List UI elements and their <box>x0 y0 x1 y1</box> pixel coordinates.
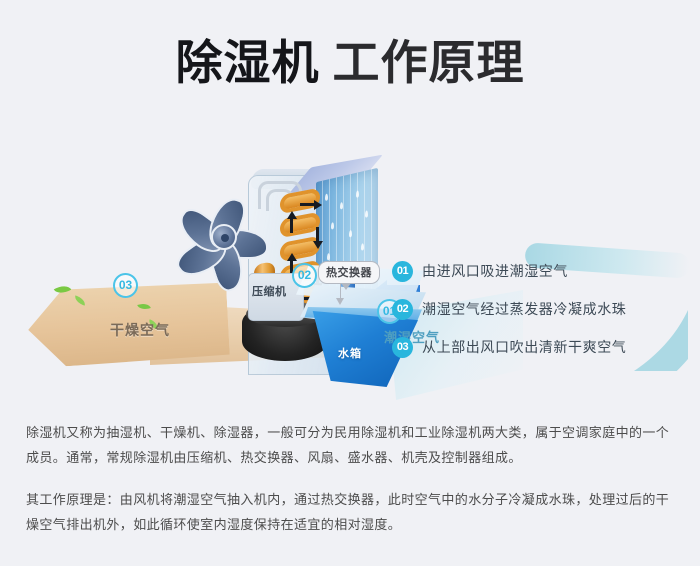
flow-arrow-right <box>314 200 322 210</box>
description-paragraph-2: 其工作原理是：由风机将潮湿空气抽入机内，通过热交换器，此时空气中的水分子冷凝成水… <box>26 487 678 537</box>
steps-legend: 01 由进风口吸进潮湿空气 02 潮湿空气经过蒸发器冷凝成水珠 03 从上部出风… <box>392 252 692 366</box>
legend-text-03: 从上部出风口吹出清新干爽空气 <box>422 337 626 357</box>
description-section: 除湿机又称为抽湿机、干燥机、除湿器，一般可分为民用除湿机和工业除湿机两大类，属于… <box>26 420 678 537</box>
legend-item-02: 02 潮湿空气经过蒸发器冷凝成水珠 <box>392 290 692 328</box>
legend-item-03: 03 从上部出风口吹出清新干爽空气 <box>392 328 692 366</box>
legend-text-01: 由进风口吸进潮湿空气 <box>422 261 568 281</box>
page-title-part2: 工作原理 <box>333 36 525 89</box>
legend-badge-03: 03 <box>392 337 413 358</box>
legend-item-01: 01 由进风口吸进潮湿空气 <box>392 252 692 290</box>
legend-text-02: 潮湿空气经过蒸发器冷凝成水珠 <box>422 299 626 319</box>
flow-arrow-down <box>313 241 323 249</box>
legend-badge-02: 02 <box>392 299 413 320</box>
flow-arrow-up <box>287 253 297 261</box>
page-title: 除湿机工作原理 <box>0 34 700 92</box>
description-paragraph-1: 除湿机又称为抽湿机、干燥机、除湿器，一般可分为民用除湿机和工业除湿机两大类，属于… <box>26 420 678 470</box>
flow-arrow-up <box>287 211 297 219</box>
legend-badge-01: 01 <box>392 261 413 282</box>
compressor-label: 压缩机 <box>252 283 287 299</box>
diagram-badge-02: 02 <box>292 263 317 288</box>
infographic-page: 除湿机工作原理 <box>0 0 700 566</box>
heat-exchanger-callout: 热交换器 <box>318 261 380 284</box>
page-title-part1: 除湿机 <box>176 36 320 89</box>
flow-arrow-stem <box>300 203 314 206</box>
dry-air-label: 干燥空气 <box>110 320 170 340</box>
diagram-badge-03: 03 <box>113 273 138 298</box>
water-tank-label: 水箱 <box>338 345 362 361</box>
flow-arrow-stem <box>290 219 293 233</box>
flow-arrow-stem <box>316 227 319 241</box>
